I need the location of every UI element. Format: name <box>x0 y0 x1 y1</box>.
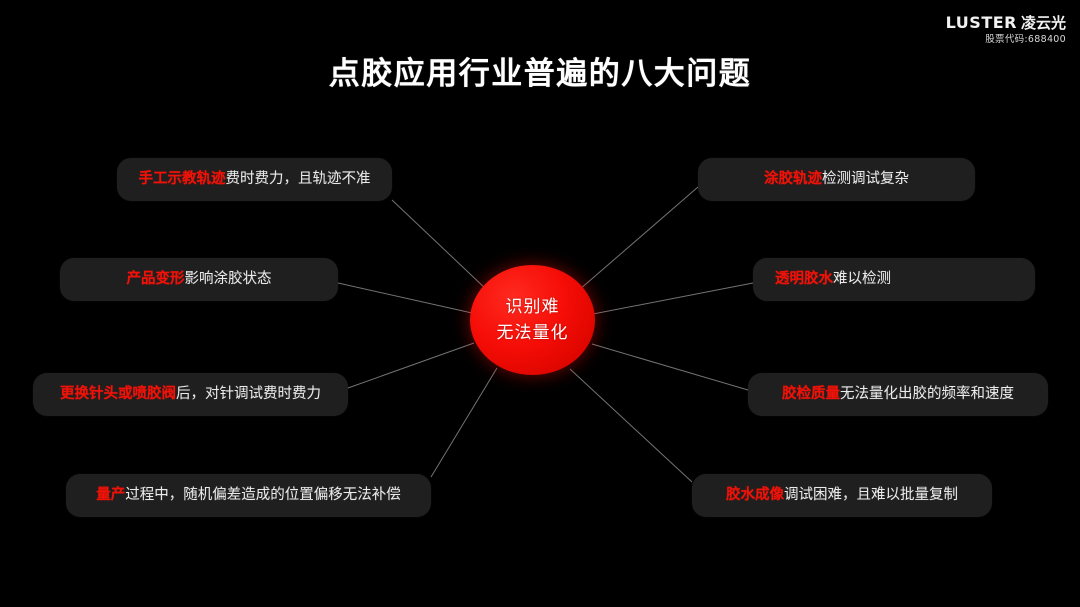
connector-line-5 <box>579 187 698 290</box>
problem-node-4-highlight: 量产 <box>96 487 125 503</box>
problem-node-1[interactable]: 手工示教轨迹费时费力，且轨迹不准 <box>117 158 392 201</box>
problem-node-4-text: 量产过程中，随机偏差造成的位置偏移无法补偿 <box>96 488 401 503</box>
problem-node-3[interactable]: 更换针头或喷胶阀后，对针调试费时费力 <box>33 373 348 416</box>
problem-node-3-text: 更换针头或喷胶阀后，对针调试费时费力 <box>60 387 321 402</box>
connector-line-4 <box>431 368 497 477</box>
problem-node-1-text: 手工示教轨迹费时费力，且轨迹不准 <box>139 172 371 187</box>
center-node: 识别难 无法量化 <box>470 265 595 375</box>
connector-line-1 <box>392 200 487 290</box>
problem-node-2[interactable]: 产品变形影响涂胶状态 <box>60 258 338 301</box>
problem-node-3-rest: 后，对针调试费时费力 <box>176 386 321 402</box>
problem-node-1-highlight: 手工示教轨迹 <box>139 171 226 187</box>
problem-node-6[interactable]: 透明胶水难以检测 <box>753 258 1035 301</box>
problem-node-5-rest: 检测调试复杂 <box>822 171 909 187</box>
problem-node-4[interactable]: 量产过程中，随机偏差造成的位置偏移无法补偿 <box>66 474 431 517</box>
connector-line-2 <box>338 283 472 313</box>
problem-node-1-rest: 费时费力，且轨迹不准 <box>226 171 371 187</box>
slide-canvas: LUSTER凌云光 股票代码:688400 点胶应用行业普遍的八大问题 识别难 … <box>0 0 1080 607</box>
problem-node-8-text: 胶水成像调试困难，且难以批量复制 <box>726 488 958 503</box>
problem-node-2-highlight: 产品变形 <box>127 271 185 287</box>
problem-node-7-rest: 无法量化出胶的频率和速度 <box>840 386 1014 402</box>
problem-node-7-text: 胶检质量无法量化出胶的频率和速度 <box>782 387 1014 402</box>
problem-node-5-text: 涂胶轨迹检测调试复杂 <box>764 172 909 187</box>
problem-node-6-highlight: 透明胶水 <box>775 271 833 287</box>
problem-node-8[interactable]: 胶水成像调试困难，且难以批量复制 <box>692 474 992 517</box>
problem-node-2-text: 产品变形影响涂胶状态 <box>127 272 272 287</box>
problem-node-6-text: 透明胶水难以检测 <box>775 272 891 287</box>
problem-node-5[interactable]: 涂胶轨迹检测调试复杂 <box>698 158 975 201</box>
problem-node-8-highlight: 胶水成像 <box>726 487 784 503</box>
connector-line-3 <box>348 343 474 388</box>
problem-node-5-highlight: 涂胶轨迹 <box>764 171 822 187</box>
problem-node-8-rest: 调试困难，且难以批量复制 <box>784 487 958 503</box>
center-node-line2: 无法量化 <box>497 320 569 346</box>
problem-node-7[interactable]: 胶检质量无法量化出胶的频率和速度 <box>748 373 1048 416</box>
problem-node-2-rest: 影响涂胶状态 <box>185 271 272 287</box>
connector-line-8 <box>570 369 692 482</box>
problem-node-3-highlight: 更换针头或喷胶阀 <box>60 386 176 402</box>
problem-node-7-highlight: 胶检质量 <box>782 386 840 402</box>
connector-line-7 <box>592 344 748 390</box>
problem-node-4-rest: 过程中，随机偏差造成的位置偏移无法补偿 <box>125 487 401 503</box>
problem-node-6-rest: 难以检测 <box>833 271 891 287</box>
center-node-line1: 识别难 <box>506 294 560 320</box>
connector-line-6 <box>593 283 753 314</box>
